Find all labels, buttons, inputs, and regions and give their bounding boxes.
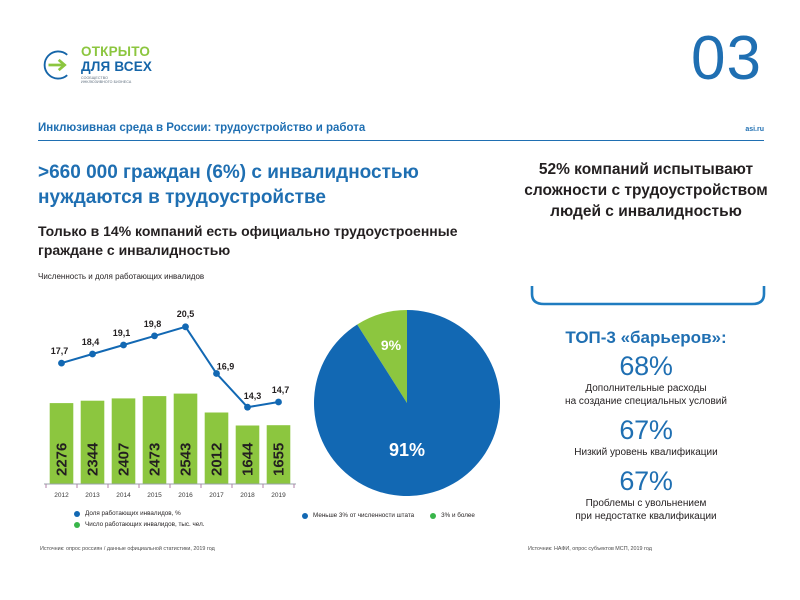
arrow-circle-icon	[40, 48, 74, 82]
legend-swatch-blue-icon	[74, 511, 80, 517]
brand-logo: ОТКРЫТО ДЛЯ ВСЕХ СООБЩЕСТВО ИНКЛЮЗИВНОГО…	[40, 45, 152, 84]
bracket-decoration-icon	[528, 286, 768, 308]
barrier-item: 68%Дополнительные расходы на создание сп…	[512, 352, 780, 408]
logo-line-1: ОТКРЫТО	[81, 45, 152, 59]
bar-value-label: 2276	[54, 443, 71, 476]
barrier-percent: 67%	[512, 416, 780, 445]
pie-legend-item-less3: Меньше 3% от численности штата	[302, 512, 414, 519]
header-title: Инклюзивная среда в России: трудоустройс…	[38, 122, 365, 134]
line-point	[275, 399, 282, 406]
legend-item-share: Доля работающих инвалидов, %	[74, 508, 205, 519]
bar-value-label: 2407	[116, 443, 133, 476]
line-value-label: 19,1	[113, 328, 131, 338]
bar-value-label: 1655	[271, 443, 288, 476]
legend-swatch-green-icon	[74, 522, 80, 528]
pie-legend-label-more3: 3% и более	[441, 512, 475, 519]
bar-value-label: 1644	[240, 442, 257, 476]
bar-chart-legend: Доля работающих инвалидов, % Число работ…	[74, 508, 205, 530]
callout-statement: 52% компаний испытывают сложности с труд…	[520, 160, 772, 222]
pie-legend-label-less3: Меньше 3% от численности штата	[313, 512, 414, 519]
line-point	[89, 351, 96, 358]
bar-line-chart-svg: 2276234424072473254320121644165520122013…	[36, 296, 304, 501]
line-value-label: 16,9	[217, 362, 235, 372]
x-axis-label: 2013	[85, 492, 100, 499]
line-point	[120, 342, 127, 349]
line-value-label: 17,7	[51, 346, 69, 356]
legend-label-share: Доля работающих инвалидов, %	[85, 508, 181, 519]
line-point	[182, 323, 189, 330]
pie-label-less3: 91%	[389, 440, 425, 460]
main-headline: >660 000 граждан (6%) с инвалидностью ну…	[38, 160, 508, 210]
barrier-percent: 67%	[512, 467, 780, 496]
line-value-label: 18,4	[82, 337, 100, 347]
slide-canvas: ОТКРЫТО ДЛЯ ВСЕХ СООБЩЕСТВО ИНКЛЮЗИВНОГО…	[0, 0, 800, 600]
bar-line-chart: 2276234424072473254320121644165520122013…	[36, 296, 304, 501]
pie-slice-less3	[314, 310, 500, 496]
top3-barriers-title: ТОП-3 «барьеров»:	[520, 328, 772, 348]
pie-legend-swatch-green-icon	[430, 513, 436, 519]
pie-chart: 9%91%	[312, 308, 502, 498]
line-point	[244, 404, 251, 411]
line-value-label: 14,3	[244, 391, 262, 401]
x-axis-label: 2014	[116, 492, 131, 499]
line-value-label: 20,5	[177, 309, 195, 319]
barrier-description: Проблемы с увольнением при недостатке кв…	[512, 497, 780, 523]
barrier-description: Низкий уровень квалификации	[512, 446, 780, 459]
pie-chart-svg: 9%91%	[312, 308, 502, 498]
x-axis-label: 2016	[178, 492, 193, 499]
line-value-label: 14,7	[272, 385, 290, 395]
page-number: 03	[691, 28, 762, 90]
logo-line-2: ДЛЯ ВСЕХ	[81, 60, 152, 74]
barrier-percent: 68%	[512, 352, 780, 381]
bar-chart-caption: Численность и доля работающих инвалидов	[38, 272, 204, 281]
bar-value-label: 2473	[147, 443, 164, 476]
x-axis-label: 2012	[54, 492, 69, 499]
line-point	[151, 333, 158, 340]
barrier-item: 67%Проблемы с увольнением при недостатке…	[512, 467, 780, 523]
line-point	[58, 360, 65, 367]
legend-label-count: Число работающих инвалидов, тыс. чел.	[85, 519, 205, 530]
pie-legend-swatch-blue-icon	[302, 513, 308, 519]
pie-chart-legend: Меньше 3% от численности штата 3% и боле…	[302, 512, 517, 519]
pie-legend-item-more3: 3% и более	[430, 512, 475, 519]
sub-headline: Только в 14% компаний есть официально тр…	[38, 222, 516, 261]
logo-tagline: СООБЩЕСТВО ИНКЛЮЗИВНОГО БИЗНЕСА	[81, 76, 152, 85]
top3-barriers-list: 68%Дополнительные расходы на создание сп…	[512, 352, 780, 531]
pie-label-more3: 9%	[381, 337, 402, 353]
x-axis-label: 2019	[271, 492, 286, 499]
x-axis-label: 2017	[209, 492, 224, 499]
section-header: Инклюзивная среда в России: трудоустройс…	[38, 122, 764, 141]
bar-value-label: 2344	[85, 442, 102, 476]
header-site-url: asi.ru	[745, 126, 764, 133]
bar-value-label: 2543	[178, 443, 195, 476]
legend-item-count: Число работающих инвалидов, тыс. чел.	[74, 519, 205, 530]
logo-wordmark: ОТКРЫТО ДЛЯ ВСЕХ СООБЩЕСТВО ИНКЛЮЗИВНОГО…	[81, 45, 152, 84]
line-value-label: 19,8	[144, 319, 162, 329]
barrier-item: 67%Низкий уровень квалификации	[512, 416, 780, 459]
x-axis-label: 2015	[147, 492, 162, 499]
source-note-left: Источник: опрос россиян / данные официал…	[40, 546, 215, 552]
source-note-right: Источник: НАФИ, опрос субъектов МСП, 201…	[528, 546, 652, 552]
barrier-description: Дополнительные расходы на создание специ…	[512, 382, 780, 408]
x-axis-label: 2018	[240, 492, 255, 499]
bar-value-label: 2012	[209, 443, 226, 476]
